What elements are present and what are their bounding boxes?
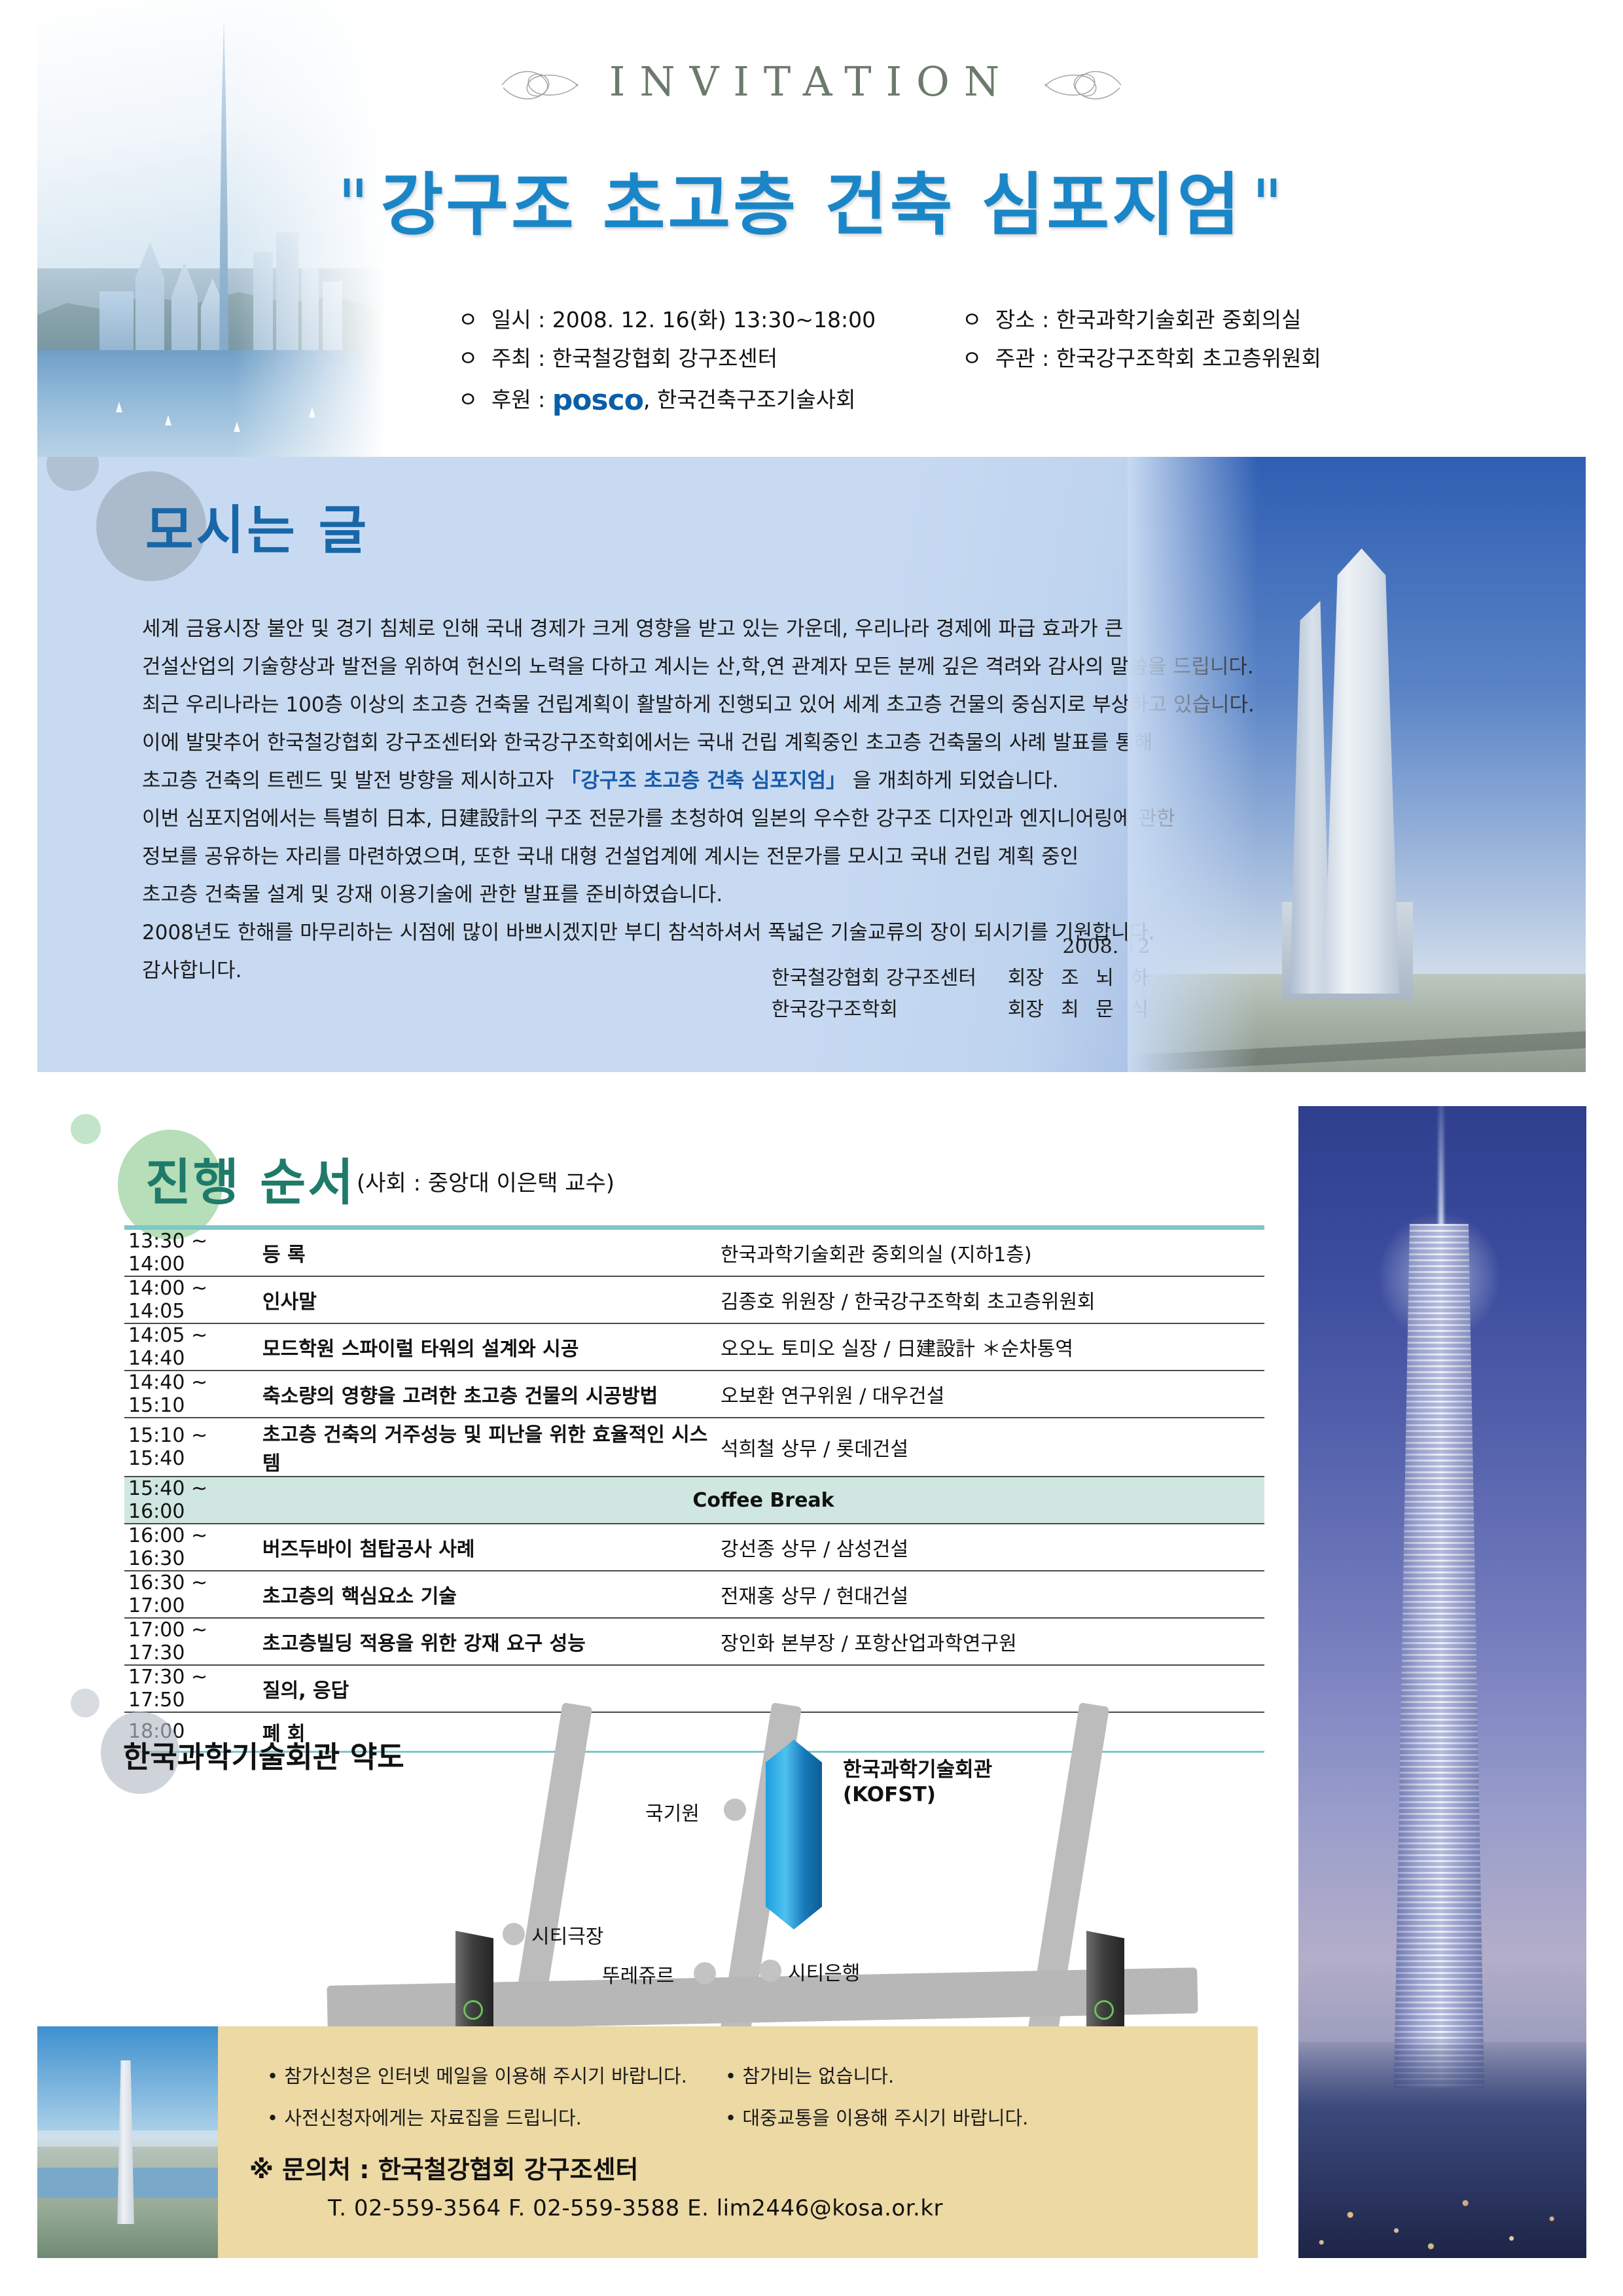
- map-label-venue-name: 한국과학기술회관: [843, 1753, 992, 1782]
- sailboat-icon: [165, 415, 171, 425]
- program-moderator: (사회 : 중앙대 이은택 교수): [357, 1165, 615, 1197]
- footer-note-item: • 참가비는 없습니다.: [725, 2055, 894, 2097]
- schedule-topic: 모드학원 스파이럴 타워의 설계와 시공: [259, 1323, 717, 1371]
- schedule-speaker: 김종호 위원장 / 한국강구조학회 초고층위원회: [717, 1276, 1264, 1323]
- footer-tower-photo: [37, 2026, 218, 2258]
- schedule-time: 13:30 ~ 14:00: [124, 1228, 259, 1277]
- posco-logo: posco: [552, 384, 643, 417]
- schedule-speaker: 강선종 상무 / 삼성건설: [717, 1524, 1264, 1571]
- schedule-topic: 축소량의 영향을 고려한 초고층 건물의 시공방법: [259, 1371, 717, 1418]
- subway-line-mark-icon: [463, 2000, 483, 2020]
- greeting-signature-block: 2008. 12 한국철강협회 강구조센터 회장 조 뇌 하 한국강구조학회 회…: [772, 933, 1154, 1028]
- footer-note-text: 대중교통을 이용해 주시기 바랍니다.: [742, 2107, 1028, 2129]
- meta-host-value: 한국철강협회 강구조센터: [552, 346, 777, 371]
- footer-note-item: • 참가신청은 인터넷 메일을 이용해 주시기 바랍니다.: [267, 2055, 725, 2097]
- program-title: 진행 순서: [145, 1142, 355, 1214]
- footer-info-box: • 참가신청은 인터넷 메일을 이용해 주시기 바랍니다. • 참가비는 없습니…: [218, 2026, 1258, 2258]
- night-tower-body: [1390, 1224, 1488, 2088]
- footer-note-item: • 대중교통을 이용해 주시기 바랍니다.: [725, 2097, 1028, 2139]
- meta-row-sponsor: ㅇ 후원 : posco, 한국건축구조기술사회: [458, 386, 1505, 415]
- schedule-topic: 초고층 건축의 거주성능 및 피난을 위한 효율적인 시스템: [259, 1418, 717, 1477]
- map-label-tous: 뚜레쥬르: [602, 1960, 674, 1988]
- flourish-left-icon: [497, 65, 582, 105]
- bullet-icon: ㅇ: [458, 346, 478, 371]
- footer-note-row: • 참가신청은 인터넷 메일을 이용해 주시기 바랍니다. • 참가비는 없습니…: [267, 2055, 1028, 2097]
- symposium-name-highlight: 「강구조 초고층 건축 심포지엄」: [560, 769, 846, 793]
- greeting-panel: 모시는 글 세계 금융시장 불안 및 경기 침체로 인해 국내 경제가 크게 영…: [37, 457, 1586, 1072]
- meta-row-date-place: ㅇ 일시 : 2008. 12. 16(화) 13:30~18:00 ㅇ 장소 …: [458, 309, 1505, 331]
- schedule-time: 17:30 ~ 17:50: [124, 1665, 259, 1712]
- table-row: 14:40 ~ 15:10축소량의 영향을 고려한 초고층 건물의 시공방법오보…: [124, 1371, 1264, 1418]
- schedule-speaker: 장인화 본부장 / 포항산업과학연구원: [717, 1618, 1264, 1665]
- bullet-icon: ㅇ: [962, 307, 982, 332]
- schedule-time: 16:00 ~ 16:30: [124, 1524, 259, 1571]
- footer-note-text: 사전신청자에게는 자료집을 드립니다.: [284, 2107, 582, 2129]
- meta-place-label: 장소 :: [995, 307, 1049, 332]
- greeting-title: 모시는 글: [145, 488, 369, 564]
- meta-host: ㅇ 주최 : 한국철강협회 강구조센터: [458, 348, 962, 369]
- footer-notes: • 참가신청은 인터넷 메일을 이용해 주시기 바랍니다. • 참가비는 없습니…: [267, 2055, 1028, 2139]
- schedule-speaker: 오보환 연구위원 / 대우건설: [717, 1371, 1264, 1418]
- schedule-speaker: 오오노 토미오 실장 / 日建設計 ＊순차통역: [717, 1323, 1264, 1371]
- sailboat-icon: [116, 402, 122, 412]
- event-meta-block: ㅇ 일시 : 2008. 12. 16(화) 13:30~18:00 ㅇ 장소 …: [458, 309, 1505, 432]
- invitation-word-text: INVITATION: [609, 58, 1014, 105]
- meta-organizer-value: 한국강구조학회 초고층위원회: [1056, 346, 1321, 371]
- schedule-break-row: 15:40 ~ 16:00Coffee Break: [124, 1477, 1264, 1524]
- schedule-time: 16:30 ~ 17:00: [124, 1571, 259, 1618]
- map-poi-dot: [759, 1960, 781, 1982]
- table-row: 16:30 ~ 17:00초고층의 핵심요소 기술전재홍 상무 / 현대건설: [124, 1571, 1264, 1618]
- program-schedule-table: 13:30 ~ 14:00등 록한국과학기술회관 중회의실 (지하1층)14:0…: [124, 1225, 1264, 1753]
- footer-contact-details: T. 02-559-3564 F. 02-559-3588 E. lim2446…: [328, 2195, 943, 2221]
- schedule-speaker: 전재홍 상무 / 현대건설: [717, 1571, 1264, 1618]
- signature-role: 회장: [1008, 996, 1061, 1028]
- subway-line-mark-icon: [1094, 2000, 1114, 2020]
- meta-row-host-organizer: ㅇ 주최 : 한국철강협회 강구조센터 ㅇ 주관 : 한국강구조학회 초고층위원…: [458, 348, 1505, 369]
- footer-contact-label: ※ 문의처 : 한국철강협회 강구조센터: [249, 2149, 639, 2185]
- page-title: "강구조 초고층 건축 심포지엄": [0, 149, 1623, 248]
- greeting-line-prefix: 초고층 건축의 트렌드 및 발전 방향을 제시하고자: [142, 769, 560, 793]
- schedule-time: 15:10 ~ 15:40: [124, 1418, 259, 1477]
- map-poi-dot: [694, 1962, 716, 1984]
- table-row: 14:05 ~ 14:40모드학원 스파이럴 타워의 설계와 시공오오노 토미오…: [124, 1323, 1264, 1371]
- footer-note-text: 참가신청은 인터넷 메일을 이용해 주시기 바랍니다.: [284, 2065, 687, 2087]
- decorative-dot: [46, 457, 99, 491]
- footer-note-text: 참가비는 없습니다.: [742, 2065, 894, 2087]
- schedule-topic: 초고층의 핵심요소 기술: [259, 1571, 717, 1618]
- meta-organizer: ㅇ 주관 : 한국강구조학회 초고층위원회: [962, 348, 1486, 369]
- map-poi-dot: [724, 1799, 746, 1821]
- schedule-time: 14:00 ~ 14:05: [124, 1276, 259, 1323]
- bullet-icon: ㅇ: [962, 346, 982, 371]
- schedule-time: 17:00 ~ 17:30: [124, 1618, 259, 1665]
- bullet-icon: ㅇ: [458, 307, 478, 332]
- kofst-building-icon: [766, 1740, 822, 1929]
- night-tower-image: [1298, 1106, 1586, 2258]
- map-label-city-theater: 시티극장: [531, 1920, 603, 1949]
- title-quote-close: ": [1242, 165, 1294, 245]
- flourish-right-icon: [1041, 65, 1126, 105]
- meta-date-label: 일시 :: [491, 307, 545, 332]
- meta-place: ㅇ 장소 : 한국과학기술회관 중회의실: [962, 309, 1486, 331]
- schedule-time: 14:40 ~ 15:10: [124, 1371, 259, 1418]
- signature-row: 한국철강협회 강구조센터 회장 조 뇌 하: [772, 965, 1154, 996]
- meta-sponsor-label: 후원 :: [491, 387, 545, 412]
- schedule-time: 14:05 ~ 14:40: [124, 1323, 259, 1371]
- meta-place-value: 한국과학기술회관 중회의실: [1056, 307, 1302, 332]
- schedule-topic: Coffee Break: [259, 1477, 1264, 1524]
- poster-root: INVITATION "강구조 초고층 건축 심포지엄" ㅇ 일시 : 2008…: [0, 0, 1623, 2296]
- table-row: 15:10 ~ 15:40초고층 건축의 거주성능 및 피난을 위한 효율적인 …: [124, 1418, 1264, 1477]
- signature-row: 한국강구조학회 회장 최 문 식: [772, 996, 1154, 1028]
- schedule-speaker: 한국과학기술회관 중회의실 (지하1층): [717, 1228, 1264, 1277]
- title-text: 강구조 초고층 건축 심포지엄: [381, 165, 1243, 245]
- schedule-speaker: [717, 1665, 1264, 1712]
- signature-org: 한국강구조학회: [772, 996, 1008, 1028]
- decorative-dot: [71, 1114, 101, 1144]
- map-label-kukgiwon: 국기원: [645, 1797, 700, 1826]
- signature-date: 2008. 12: [772, 933, 1154, 961]
- schedule-topic: 초고층빌딩 적용을 위한 강재 요구 성능: [259, 1618, 717, 1665]
- table-row: 16:00 ~ 16:30버즈두바이 첨탑공사 사례강선종 상무 / 삼성건설: [124, 1524, 1264, 1571]
- map-label-venue-en: (KOFST): [843, 1783, 936, 1806]
- schedule-topic: 등 록: [259, 1228, 717, 1277]
- meta-organizer-label: 주관 :: [995, 346, 1049, 371]
- table-row: 13:30 ~ 14:00등 록한국과학기술회관 중회의실 (지하1층): [124, 1228, 1264, 1277]
- table-row: 17:00 ~ 17:30초고층빌딩 적용을 위한 강재 요구 성능장인화 본부…: [124, 1618, 1264, 1665]
- signature-org: 한국철강협회 강구조센터: [772, 965, 1008, 996]
- signature-role: 회장: [1008, 965, 1061, 996]
- bullet-icon: ㅇ: [458, 387, 478, 412]
- map-poi-dot: [503, 1923, 525, 1945]
- invitation-heading: INVITATION: [0, 58, 1623, 105]
- schedule-speaker: 석희철 상무 / 롯데건설: [717, 1418, 1264, 1477]
- meta-sponsor-value: , 한국건축구조기술사회: [643, 387, 856, 412]
- schedule-topic: 인사말: [259, 1276, 717, 1323]
- night-tower-city-lights: [1298, 2062, 1586, 2258]
- footer-note-row: • 사전신청자에게는 자료집을 드립니다. • 대중교통을 이용해 주시기 바랍…: [267, 2097, 1028, 2139]
- schedule-topic: 질의, 응답: [259, 1665, 717, 1712]
- meta-sponsor: ㅇ 후원 : posco, 한국건축구조기술사회: [458, 386, 1243, 415]
- map-label-citibank: 시티은행: [788, 1957, 860, 1986]
- meta-date-value: 2008. 12. 16(화) 13:30~18:00: [552, 307, 876, 332]
- schedule-time: 15:40 ~ 16:00: [124, 1477, 259, 1524]
- greeting-line-suffix: 을 개최하게 되었습니다.: [846, 769, 1059, 793]
- table-row: 14:00 ~ 14:05인사말김종호 위원장 / 한국강구조학회 초고층위원회: [124, 1276, 1264, 1323]
- title-quote-open: ": [329, 165, 381, 245]
- signature-table: 한국철강협회 강구조센터 회장 조 뇌 하 한국강구조학회 회장 최 문 식: [772, 965, 1154, 1028]
- decorative-dot: [71, 1689, 99, 1717]
- meta-host-label: 주최 :: [491, 346, 545, 371]
- footer-note-item: • 사전신청자에게는 자료집을 드립니다.: [267, 2097, 725, 2139]
- schedule-topic: 버즈두바이 첨탑공사 사례: [259, 1524, 717, 1571]
- meta-date: ㅇ 일시 : 2008. 12. 16(화) 13:30~18:00: [458, 309, 962, 331]
